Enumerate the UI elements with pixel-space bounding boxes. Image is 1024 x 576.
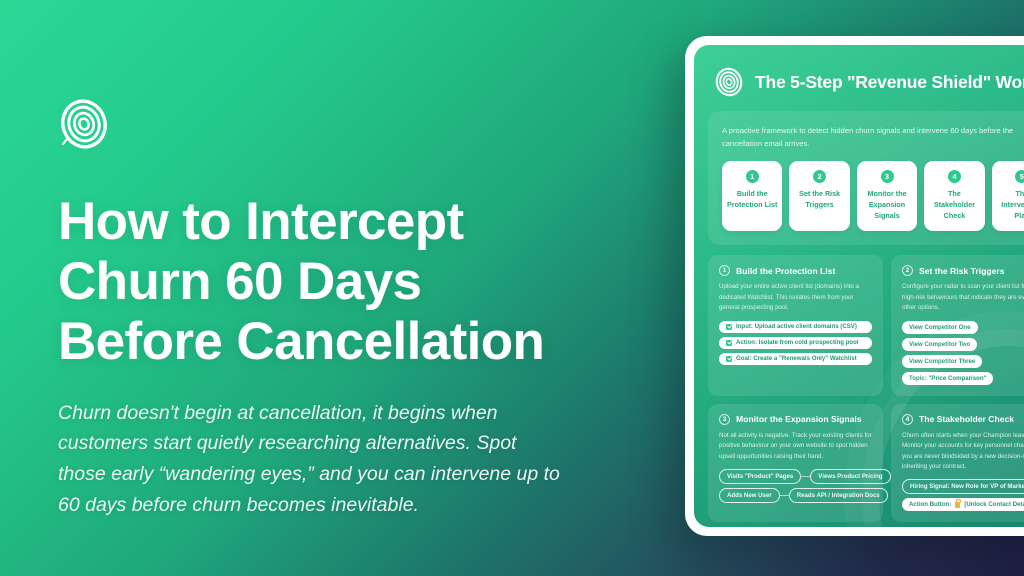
step-number: 5 [1015, 170, 1024, 183]
card-description: Churn often starts when your Champion le… [902, 431, 1024, 473]
step-card-1[interactable]: 1 Build the Protection List [722, 161, 782, 231]
card-header: 4 The Stakeholder Check [902, 414, 1024, 425]
workflow-panel: The 5-Step "Revenue Shield" Workflow A p… [694, 45, 1024, 527]
step-card-2[interactable]: 2 Set the Risk Triggers [789, 161, 849, 231]
checklist-item: Goal: Create a "Renewals Only" Watchlist [719, 353, 872, 365]
card-header: 2 Set the Risk Triggers [902, 265, 1024, 276]
checklist-label: Action: Isolate from cold prospecting po… [736, 339, 859, 346]
detail-card-4: 4 The Stakeholder Check Churn often star… [891, 404, 1024, 523]
card-number-badge: 1 [719, 265, 730, 276]
step-number: 4 [948, 170, 961, 183]
card-title: Build the Protection List [736, 266, 835, 276]
lock-icon [955, 502, 960, 508]
card-description: Not all activity is negative. Track your… [719, 431, 872, 462]
signal-flow-row: Adds New User Reads API / Integration Do… [719, 488, 872, 503]
step-label: The Stakeholder Check [927, 189, 981, 221]
step-number: 1 [746, 170, 759, 183]
signal-flow-row: Visits "Product" Pages Views Product Pri… [719, 469, 872, 484]
device-frame: The 5-Step "Revenue Shield" Workflow A p… [685, 36, 1024, 536]
hero-subtitle: Churn doesn't begin at cancellation, it … [58, 398, 563, 521]
title-line-2: Churn 60 Days [58, 252, 658, 312]
spiral-target-icon [58, 98, 110, 150]
signal-node[interactable]: Visits "Product" Pages [719, 469, 801, 484]
step-label: Build the Protection List [725, 189, 779, 211]
trigger-pill[interactable]: View Competitor Two [902, 338, 977, 351]
card-description: Configure your radar to scan your client… [902, 282, 1024, 313]
card-header: 3 Monitor the Expansion Signals [719, 414, 872, 425]
step-overview-row: 1 Build the Protection List 2 Set the Ri… [722, 161, 1024, 231]
detail-card-1: 1 Build the Protection List Upload your … [708, 255, 883, 395]
detail-card-2: 2 Set the Risk Triggers Configure your r… [891, 255, 1024, 395]
card-title: The Stakeholder Check [919, 414, 1014, 424]
checklist-item: Input: Upload active client domains (CSV… [719, 321, 872, 333]
checklist-label: Input: Upload active client domains (CSV… [736, 323, 857, 330]
trigger-pill[interactable]: View Competitor One [902, 321, 978, 334]
panel-title: The 5-Step "Revenue Shield" Workflow [755, 72, 1024, 93]
card-description: Upload your entire active client list (d… [719, 282, 872, 313]
checklist-item: Action: Isolate from cold prospecting po… [719, 337, 872, 349]
panel-intro-text: A proactive framework to detect hidden c… [722, 124, 1024, 150]
step-card-5[interactable]: 5 The Intervention Play [992, 161, 1024, 231]
step-number: 3 [881, 170, 894, 183]
signal-node[interactable]: Adds New User [719, 488, 780, 503]
trigger-pill-list: View Competitor One View Competitor Two … [902, 321, 1024, 385]
hero-section: How to Intercept Churn 60 Days Before Ca… [58, 98, 658, 521]
step-card-4[interactable]: 4 The Stakeholder Check [924, 161, 984, 231]
card-title: Set the Risk Triggers [919, 266, 1005, 276]
card-number-badge: 2 [902, 265, 913, 276]
card-number-badge: 3 [719, 414, 730, 425]
title-line-3: Before Cancellation [58, 312, 658, 372]
action-label: [Unlock Contact Details] [964, 501, 1024, 508]
panel-intro-block: A proactive framework to detect hidden c… [708, 111, 1024, 245]
page-title: How to Intercept Churn 60 Days Before Ca… [58, 192, 658, 372]
signal-node[interactable]: Views Product Pricing [810, 469, 890, 484]
flow-connector [801, 476, 810, 477]
action-prefix-label: Action Button: [909, 501, 951, 508]
stakeholder-pill-list: Hiring Signal: New Role for VP of Market… [902, 479, 1024, 511]
check-icon [726, 340, 732, 346]
card-title: Monitor the Expansion Signals [736, 414, 862, 424]
card-header: 1 Build the Protection List [719, 265, 872, 276]
step-label: Monitor the Expansion Signals [860, 189, 914, 221]
signal-node[interactable]: Reads API / Integration Docs [789, 488, 888, 503]
card-number-badge: 4 [902, 414, 913, 425]
spiral-target-icon [714, 67, 744, 97]
brand-logo [58, 98, 110, 150]
title-line-1: How to Intercept [58, 192, 658, 252]
trigger-pill[interactable]: View Competitor Three [902, 355, 982, 368]
panel-header: The 5-Step "Revenue Shield" Workflow [694, 45, 1024, 111]
check-icon [726, 324, 732, 330]
step-label: The Intervention Play [995, 189, 1024, 221]
hiring-signal-pill[interactable]: Hiring Signal: New Role for VP of Market… [902, 479, 1024, 494]
unlock-contact-button[interactable]: Action Button: [Unlock Contact Details] [902, 498, 1024, 511]
signal-flow: Visits "Product" Pages Views Product Pri… [719, 469, 872, 503]
step-label: Set the Risk Triggers [792, 189, 846, 211]
detail-card-grid: 1 Build the Protection List Upload your … [694, 245, 1024, 527]
check-icon [726, 356, 732, 362]
trigger-pill[interactable]: Topic: "Price Comparison" [902, 372, 993, 385]
checklist-label: Goal: Create a "Renewals Only" Watchlist [736, 355, 857, 362]
step-card-3[interactable]: 3 Monitor the Expansion Signals [857, 161, 917, 231]
step-number: 2 [813, 170, 826, 183]
flow-connector [780, 495, 789, 496]
detail-card-3: 3 Monitor the Expansion Signals Not all … [708, 404, 883, 523]
